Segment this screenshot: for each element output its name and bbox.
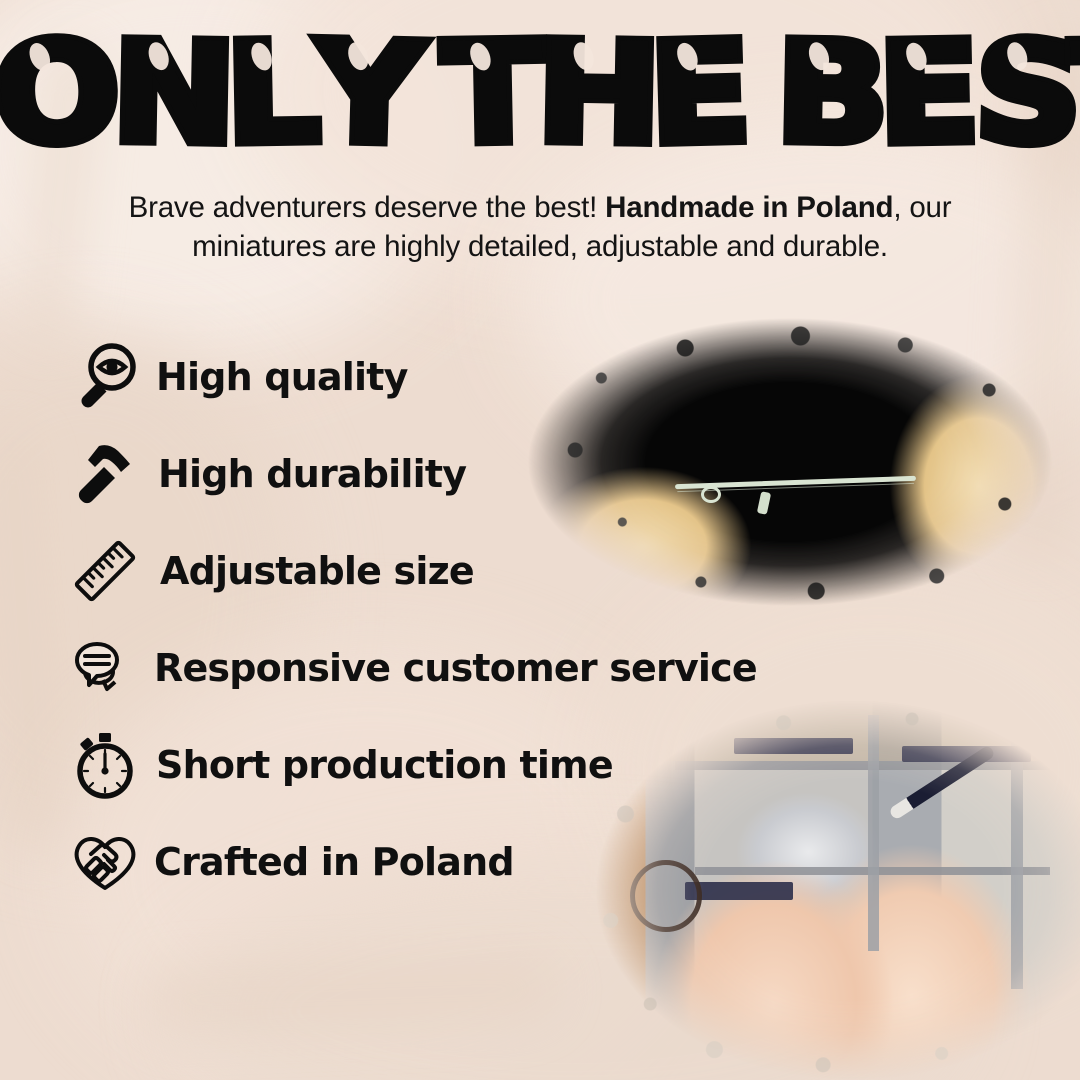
promotional-poster: ONLYTHEBEST Brave adventurers deserve th… (0, 0, 1080, 1080)
photo-image (586, 700, 1080, 1080)
shelf-post (868, 715, 879, 951)
miniature-ring-detail (701, 486, 721, 503)
workshop-painting-photo (586, 700, 1080, 1080)
speech-bubbles-icon (62, 625, 148, 711)
feature-label: High quality (156, 357, 408, 397)
feature-label: Adjustable size (160, 551, 474, 591)
magnifier-eye-icon (62, 334, 148, 420)
photo-image (528, 312, 1052, 612)
parts-tray (734, 738, 853, 754)
subtitle-lead: Brave adventurers deserve the best! (129, 191, 606, 224)
miniature-flex-photo (528, 312, 1052, 612)
stopwatch-icon (62, 722, 148, 808)
feature-label: High durability (158, 454, 466, 494)
hammer-icon (62, 431, 148, 517)
feature-label: Responsive customer service (154, 648, 757, 688)
miniature-part (675, 476, 916, 489)
feature-label: Short production time (156, 745, 613, 785)
subtitle-highlight: Handmade in Poland (605, 191, 893, 224)
shelf-board (675, 761, 1050, 770)
eyeglasses (630, 860, 702, 932)
page-title: ONLYTHEBEST (0, 38, 1080, 168)
miniature-knot-detail (756, 491, 770, 515)
subtitle: Brave adventurers deserve the best! Hand… (60, 188, 1020, 266)
ruler-icon (62, 528, 148, 614)
feature-label: Crafted in Poland (154, 842, 514, 882)
heart-handshake-icon (62, 819, 148, 905)
